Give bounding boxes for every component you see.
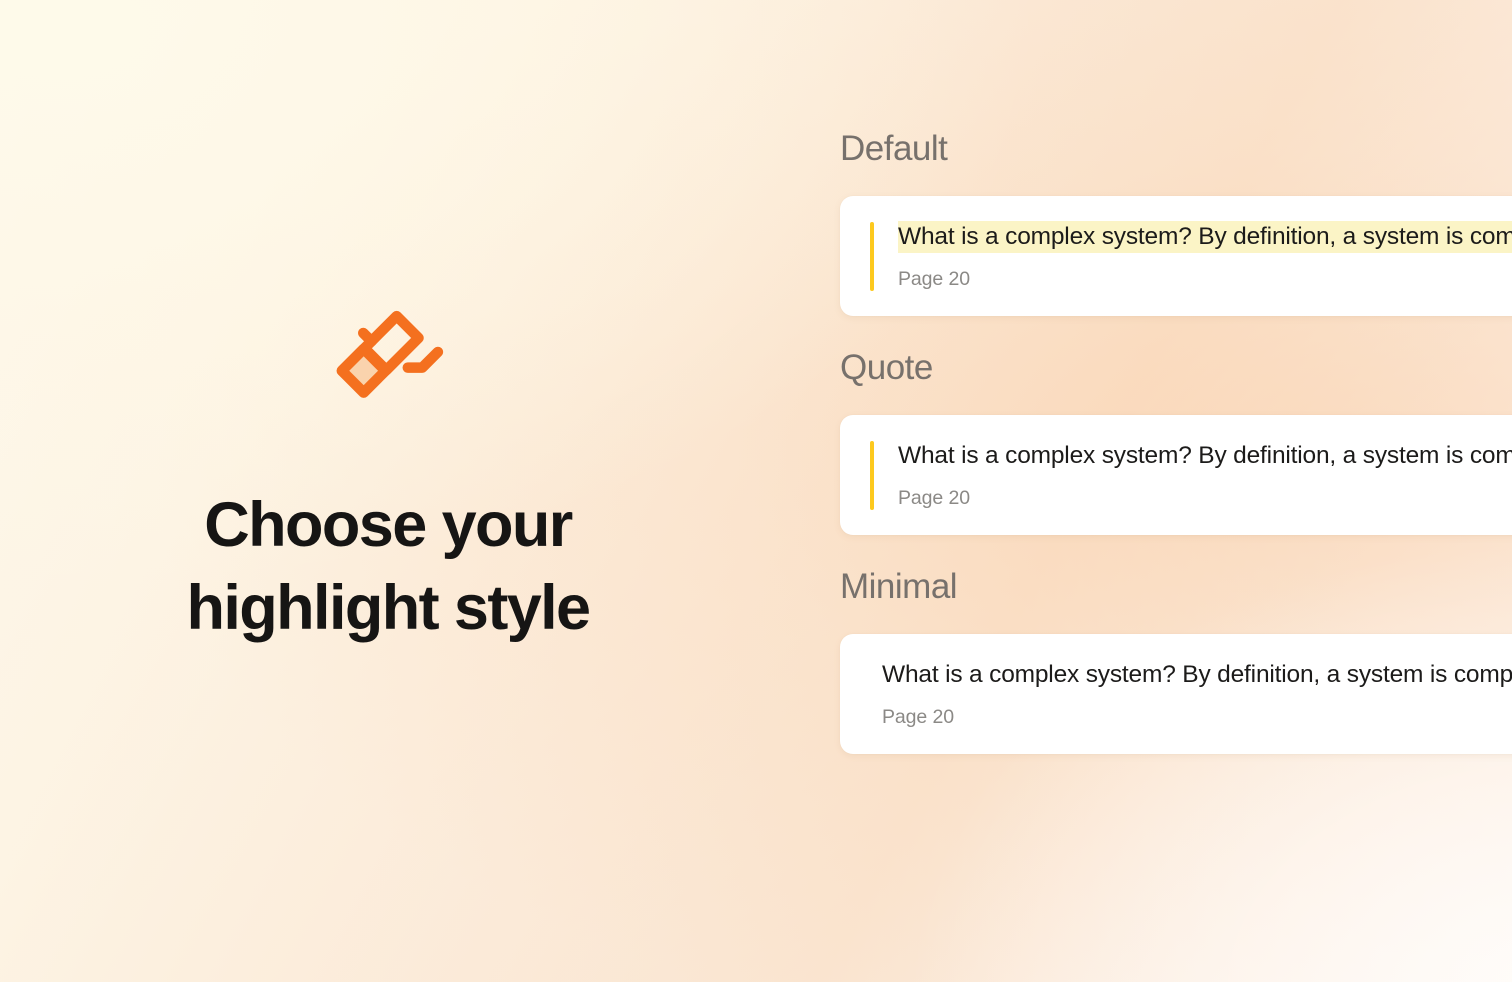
highlight-preview-card[interactable]: What is a complex system? By definition,… [840, 196, 1512, 316]
page-number-label: Page 20 [882, 706, 1512, 729]
style-option-heading: Minimal [840, 567, 1512, 607]
highlight-quote-span: What is a complex system? By definition,… [898, 221, 1512, 253]
highlight-preview-card[interactable]: What is a complex system? By definition,… [840, 415, 1512, 535]
card-body: What is a complex system? By definition,… [870, 441, 1512, 510]
card-text: What is a complex system? By definition,… [898, 441, 1512, 510]
highlighter-outline [342, 316, 438, 393]
card-body: What is a complex system? By definition,… [870, 222, 1512, 291]
style-option-heading: Quote [840, 348, 1512, 388]
style-option-minimal[interactable]: Minimal What is a complex system? By def… [840, 567, 1512, 754]
style-option-default[interactable]: Default What is a complex system? By def… [840, 129, 1512, 316]
card-text: What is a complex system? By definition,… [898, 222, 1512, 291]
highlight-quote-text: What is a complex system? By definition,… [898, 222, 1512, 252]
highlight-quote-span: What is a complex system? By definition,… [882, 661, 1512, 688]
page-title-line-2: highlight style [186, 567, 589, 650]
highlight-quote-text: What is a complex system? By definition,… [882, 660, 1512, 690]
highlight-preview-card[interactable]: What is a complex system? By definition,… [840, 634, 1512, 754]
hero-panel: Choose your highlight style [0, 0, 776, 982]
page-number-label: Page 20 [898, 268, 1512, 291]
card-body: What is a complex system? By definition,… [870, 660, 1512, 729]
accent-bar [870, 222, 874, 291]
card-text: What is a complex system? By definition,… [870, 660, 1512, 729]
onboarding-screen: Choose your highlight style Default What… [0, 0, 1512, 982]
page-number-label: Page 20 [898, 487, 1512, 510]
page-title: Choose your highlight style [186, 484, 589, 650]
accent-bar [870, 441, 874, 510]
highlight-quote-span: What is a complex system? By definition,… [898, 442, 1512, 469]
style-option-quote[interactable]: Quote What is a complex system? By defin… [840, 348, 1512, 535]
highlighter-marker-icon [322, 274, 454, 406]
highlight-quote-text: What is a complex system? By definition,… [898, 441, 1512, 471]
highlight-style-options: Default What is a complex system? By def… [776, 0, 1512, 982]
style-option-heading: Default [840, 129, 1512, 169]
page-title-line-1: Choose your [186, 484, 589, 567]
